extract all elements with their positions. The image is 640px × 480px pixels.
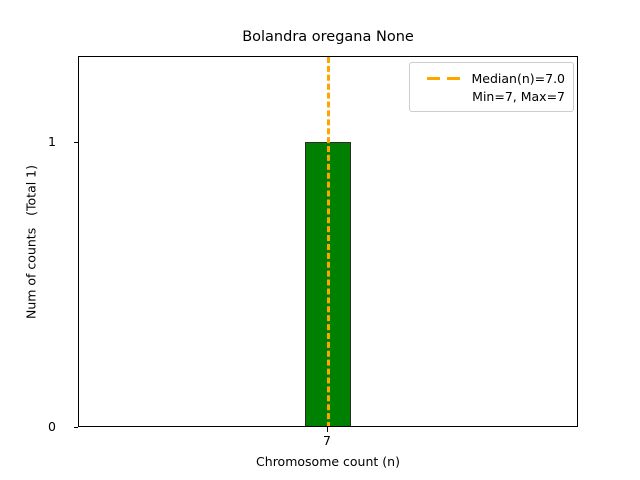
y-tick-label-1: 1 (48, 136, 56, 149)
legend-label-median: Median(n)=7.0 (472, 71, 566, 86)
legend: Median(n)=7.0 Min=7, Max=7 (409, 62, 574, 112)
chart-title: Bolandra oregana None (78, 28, 578, 46)
x-tick-mark-7 (327, 427, 328, 432)
legend-swatch-empty (427, 90, 463, 102)
legend-entry-median: Median(n)=7.0 (416, 69, 565, 87)
x-tick-label-7: 7 (323, 434, 331, 448)
y-axis-label-spacer (24, 216, 39, 228)
chart-figure: Bolandra oregana None 0 1 7 Chromosome c… (0, 0, 640, 480)
median-line (327, 57, 330, 427)
y-tick-mark-1 (74, 142, 79, 143)
legend-label-minmax: Min=7, Max=7 (472, 89, 565, 104)
y-tick-mark-0 (74, 427, 79, 428)
y-tick-label-0: 0 (48, 421, 56, 434)
y-axis-label-line1: Num of counts (24, 228, 39, 319)
y-axis-label-line2: (Total 1) (24, 165, 39, 216)
dashed-line-icon (427, 72, 463, 84)
legend-entry-minmax: Min=7, Max=7 (416, 87, 565, 105)
y-axis-label: Num of counts (Total 1) (24, 57, 40, 428)
x-axis-label: Chromosome count (n) (78, 455, 578, 469)
